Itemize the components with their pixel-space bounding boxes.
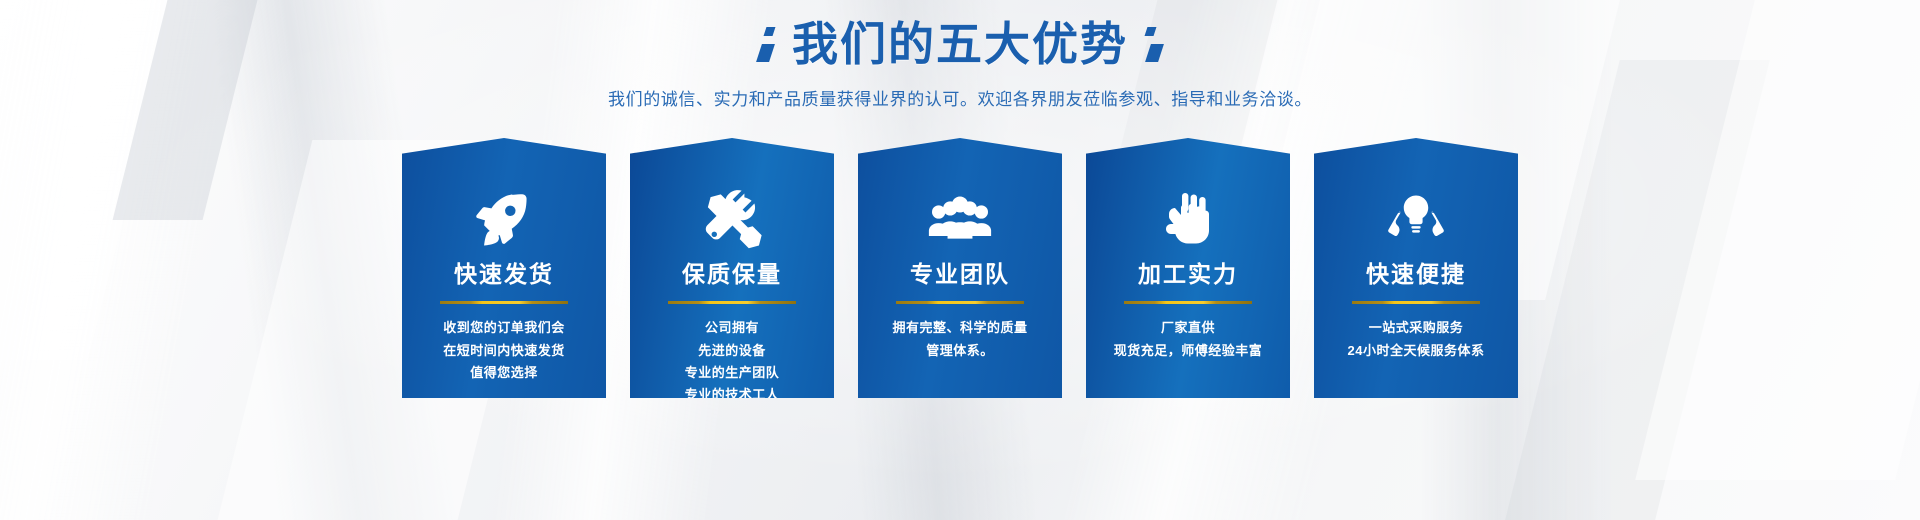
- advantage-card[interactable]: 快速发货 收到您的订单我们会 在短时间内快速发货 值得您选择: [402, 138, 606, 398]
- page-subtitle: 我们的诚信、实力和产品质量获得业界的认可。欢迎各界朋友莅临参观、指导和业务洽谈。: [0, 85, 1920, 110]
- card-description: 拥有完整、科学的质量 管理体系。: [858, 317, 1062, 362]
- card-title: 快速发货: [402, 262, 606, 287]
- card-description-line: 拥有完整、科学的质量: [858, 317, 1062, 339]
- card-divider: [440, 301, 568, 304]
- card-description-line: 一站式采购服务: [1314, 317, 1518, 339]
- card-description-line: 专业的生产团队: [630, 362, 834, 384]
- wrench-screwdriver-icon: [630, 184, 834, 256]
- fist-icon: [1086, 184, 1290, 256]
- title-decoration-right-icon: [1146, 27, 1161, 62]
- card-description-line: 收到您的订单我们会: [402, 317, 606, 339]
- card-divider: [668, 301, 796, 304]
- card-divider: [1352, 301, 1480, 304]
- card-divider: [896, 301, 1024, 304]
- page-title: 我们的五大优势: [792, 18, 1128, 71]
- advantage-card[interactable]: 保质保量 公司拥有 先进的设备 专业的生产团队 专业的技术工人: [630, 138, 834, 398]
- card-description: 厂家直供 现货充足，师傅经验丰富: [1086, 317, 1290, 362]
- people-group-icon: [858, 184, 1062, 256]
- card-description: 公司拥有 先进的设备 专业的生产团队 专业的技术工人: [630, 317, 834, 398]
- card-description-line: 值得您选择: [402, 362, 606, 384]
- header: 我们的五大优势 我们的诚信、实力和产品质量获得业界的认可。欢迎各界朋友莅临参观、…: [0, 18, 1920, 110]
- hands-lightbulb-icon: [1314, 184, 1518, 256]
- card-description-line: 在短时间内快速发货: [402, 340, 606, 362]
- advantage-card[interactable]: 专业团队 拥有完整、科学的质量 管理体系。: [858, 138, 1062, 398]
- advantage-card-list: 快速发货 收到您的订单我们会 在短时间内快速发货 值得您选择 保质保量 公司拥有…: [0, 138, 1920, 398]
- title-decoration-left-icon: [759, 27, 774, 62]
- card-description-line: 厂家直供: [1086, 317, 1290, 339]
- card-description-line: 公司拥有: [630, 317, 834, 339]
- card-description: 一站式采购服务 24小时全天候服务体系: [1314, 317, 1518, 362]
- advantage-card[interactable]: 加工实力 厂家直供 现货充足，师傅经验丰富: [1086, 138, 1290, 398]
- card-description-line: 管理体系。: [858, 340, 1062, 362]
- card-title: 加工实力: [1086, 262, 1290, 287]
- card-description-line: 24小时全天候服务体系: [1314, 340, 1518, 362]
- title-row: 我们的五大优势: [0, 18, 1920, 71]
- card-title: 保质保量: [630, 262, 834, 287]
- card-title: 快速便捷: [1314, 262, 1518, 287]
- card-description-line: 专业的技术工人: [630, 384, 834, 398]
- card-description: 收到您的订单我们会 在短时间内快速发货 值得您选择: [402, 317, 606, 384]
- card-divider: [1124, 301, 1252, 304]
- advantage-card[interactable]: 快速便捷 一站式采购服务 24小时全天候服务体系: [1314, 138, 1518, 398]
- card-description-line: 现货充足，师傅经验丰富: [1086, 340, 1290, 362]
- card-description-line: 先进的设备: [630, 340, 834, 362]
- rocket-icon: [402, 184, 606, 256]
- card-title: 专业团队: [858, 262, 1062, 287]
